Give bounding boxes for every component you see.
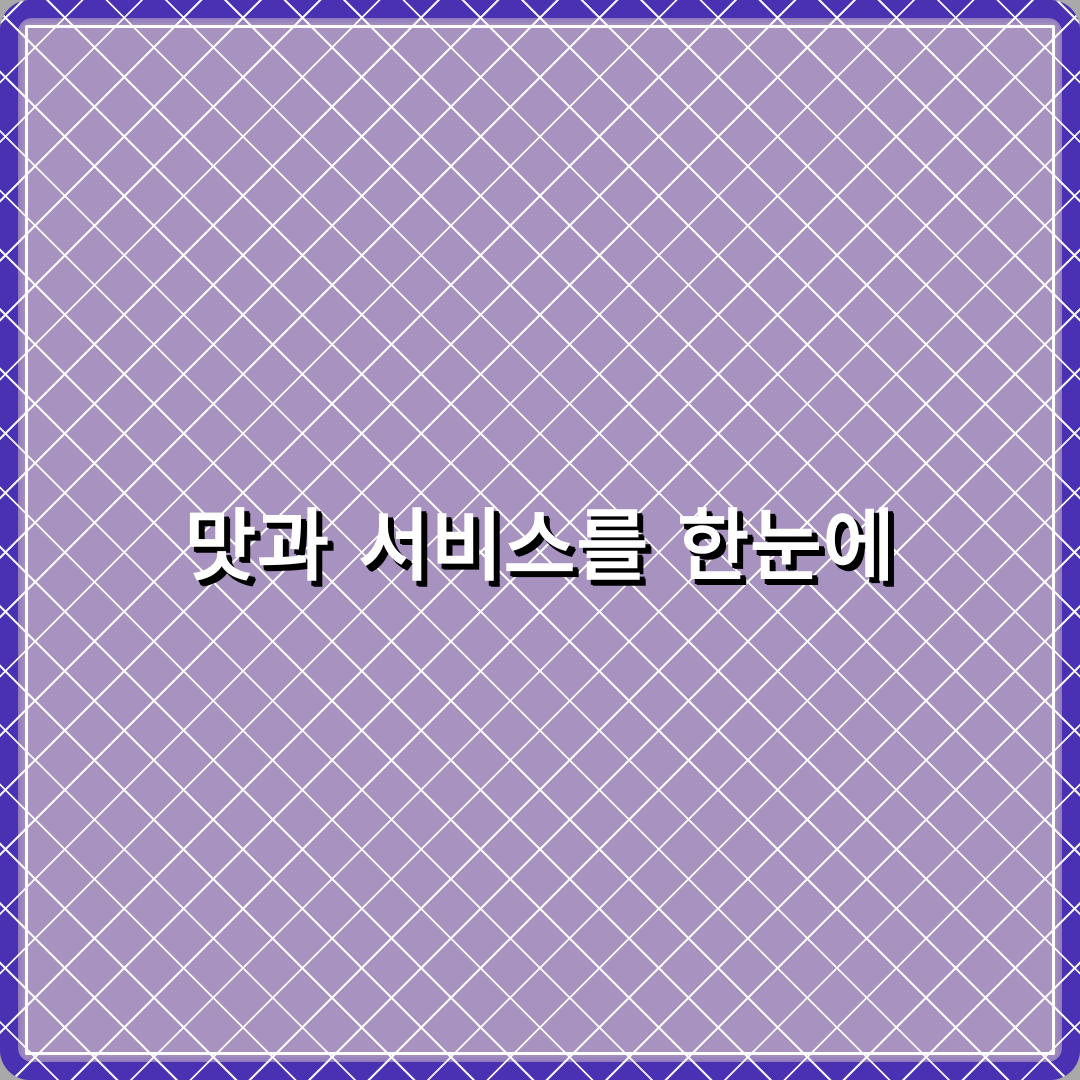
promo-banner: 맛과 서비스를 한눈에 [0,0,1080,1080]
headline-container: 맛과 서비스를 한눈에 [0,0,1080,1080]
banner-headline: 맛과 서비스를 한눈에 [184,484,895,596]
